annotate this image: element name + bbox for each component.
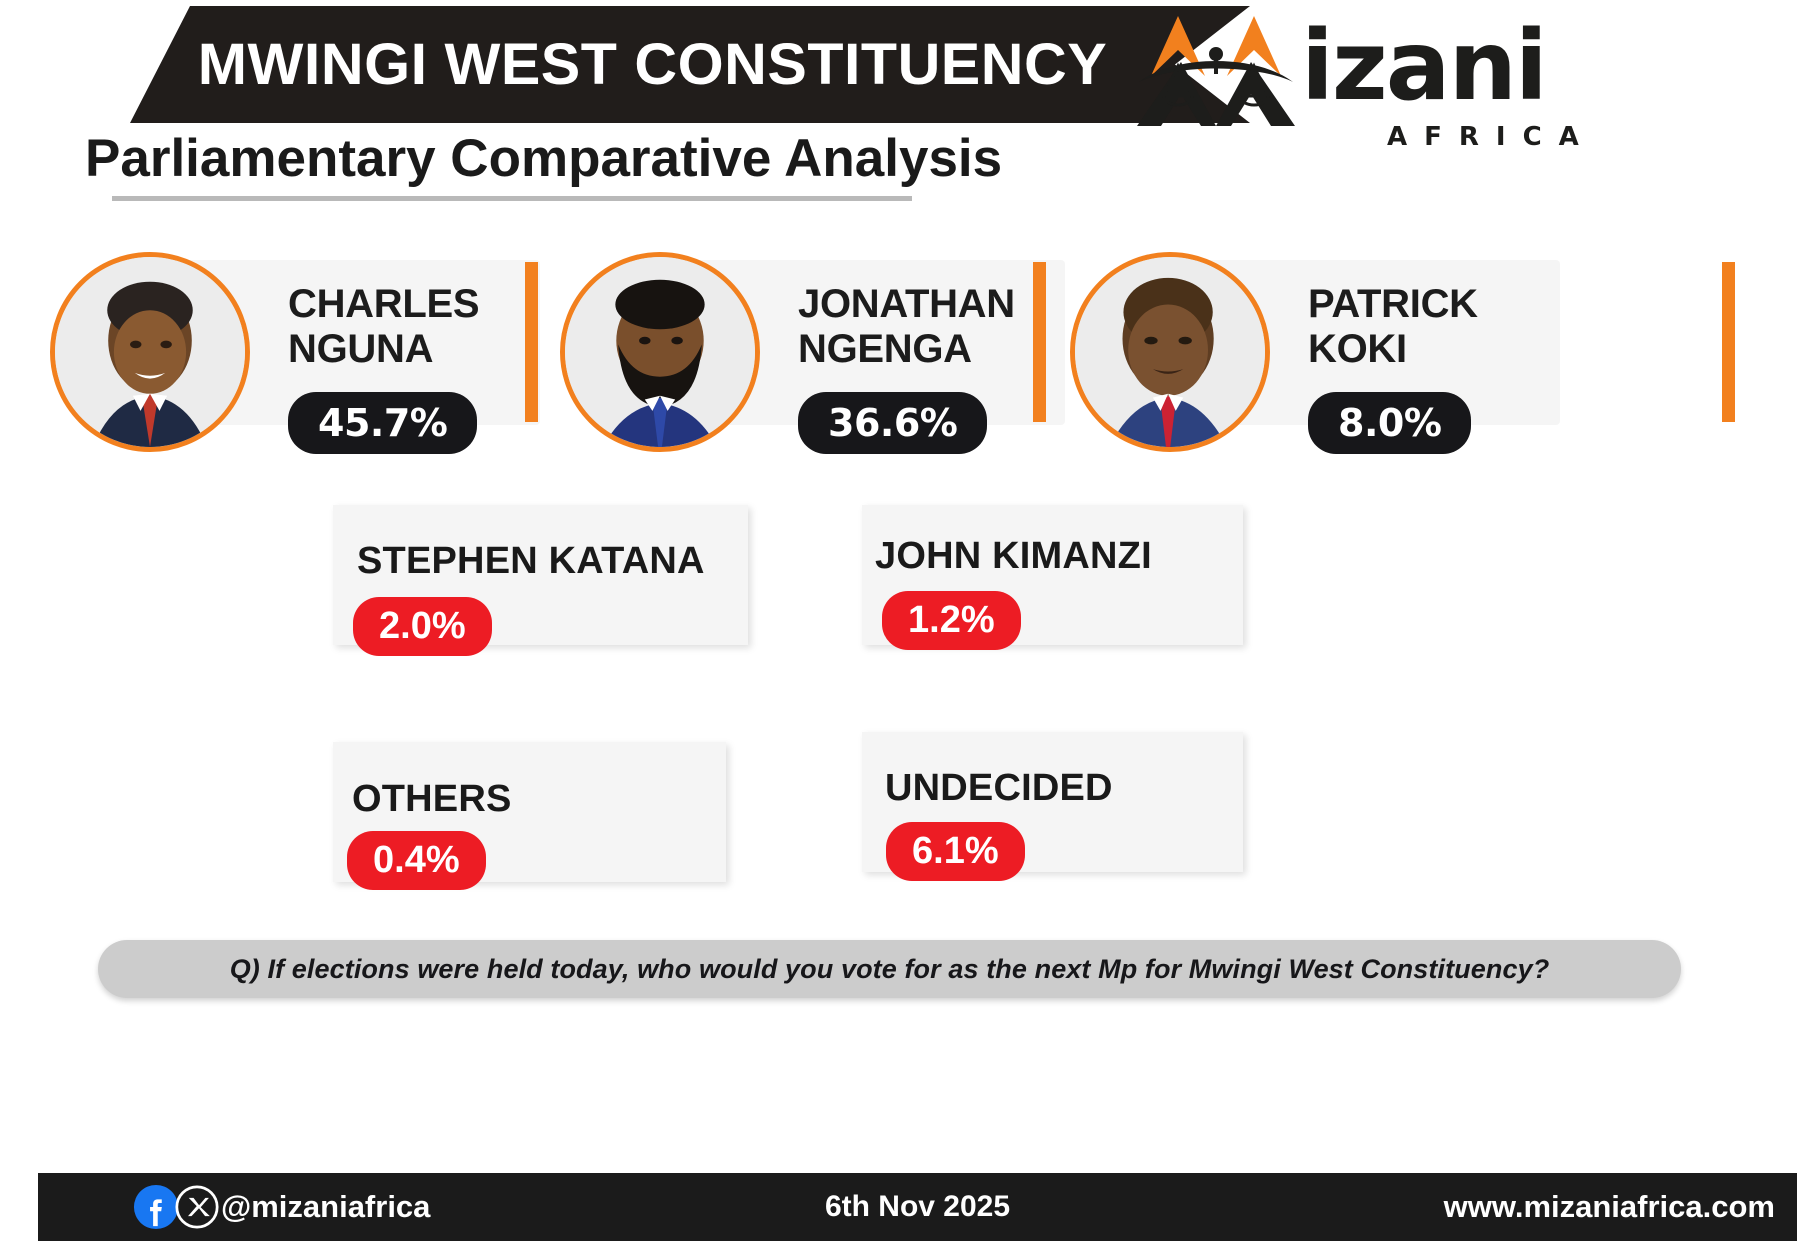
candidate-last-name-3: KOKI (1308, 327, 1407, 371)
candidate-divider-3 (1722, 262, 1735, 422)
candidate-name-3: PATRICK KOKI (1308, 282, 1478, 372)
subtitle-divider (112, 196, 912, 201)
secondary-percent-3: 0.4% (347, 831, 486, 890)
candidate-photo-1 (50, 252, 250, 452)
candidate-percent-2: 36.6% (798, 392, 987, 454)
footer-website[interactable]: www.mizaniafrica.com (1444, 1189, 1775, 1225)
candidate-card-1[interactable]: CHARLES NGUNA 45.7% (50, 252, 545, 430)
page-title: MWINGI WEST CONSTITUENCY (120, 6, 1186, 123)
candidate-last-name-2: NGENGA (798, 327, 972, 371)
candidate-divider-1 (525, 262, 538, 422)
logo-wordmark: izani (1301, 18, 1546, 114)
candidate-name-2: JONATHAN NGENGA (798, 282, 1015, 372)
footer-bar: @mizaniafrica 6th Nov 2025 www.mizaniafr… (38, 1173, 1797, 1241)
secondary-percent-2: 1.2% (882, 591, 1021, 650)
candidate-card-3[interactable]: PATRICK KOKI 8.0% (1070, 252, 1565, 430)
candidate-last-name-1: NGUNA (288, 327, 433, 371)
secondary-name-4: UNDECIDED (885, 767, 1113, 810)
candidate-first-name-2: JONATHAN (798, 282, 1015, 326)
brand-logo: izani AFRICA (1123, 6, 1783, 156)
secondary-name-3: OTHERS (352, 778, 512, 821)
secondary-percent-4: 6.1% (886, 822, 1025, 881)
candidate-card-2[interactable]: JONATHAN NGENGA 36.6% (560, 252, 1055, 430)
candidate-divider-2 (1033, 262, 1046, 422)
candidate-first-name-1: CHARLES (288, 282, 479, 326)
secondary-name-2: JOHN KIMANZI (875, 535, 1152, 578)
candidate-photo-3 (1070, 252, 1270, 452)
header-banner: MWINGI WEST CONSTITUENCY (130, 6, 1250, 123)
candidate-first-name-3: PATRICK (1308, 282, 1478, 326)
poll-question-bar: Q) If elections were held today, who wou… (98, 940, 1681, 998)
secondary-percent-1: 2.0% (353, 597, 492, 656)
candidate-percent-3: 8.0% (1308, 392, 1471, 454)
logo-subtext: AFRICA (1387, 122, 1596, 152)
top-candidates-row: CHARLES NGUNA 45.7% JONATHAN NGENGA (50, 240, 1750, 440)
candidate-photo-2 (560, 252, 760, 452)
scales-of-justice-m-icon (1131, 10, 1301, 128)
poll-question-text: Q) If elections were held today, who wou… (230, 954, 1550, 985)
secondary-name-1: STEPHEN KATANA (357, 540, 705, 583)
candidate-percent-1: 45.7% (288, 392, 477, 454)
candidate-name-1: CHARLES NGUNA (288, 282, 479, 372)
page-subtitle: Parliamentary Comparative Analysis (85, 128, 1002, 189)
